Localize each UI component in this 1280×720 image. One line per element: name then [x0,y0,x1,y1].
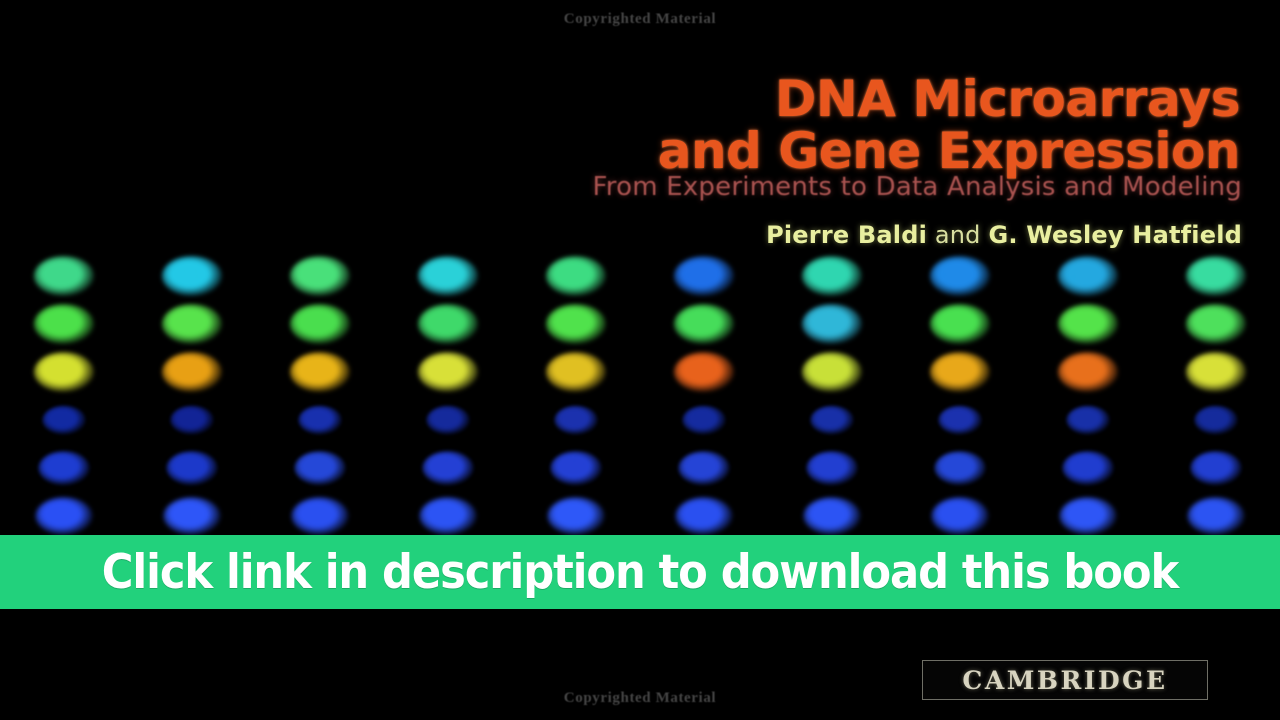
microarray-spot [426,406,469,435]
microarray-spot [418,304,478,344]
microarray-spot [930,352,990,392]
microarray-spot [292,497,349,535]
microarray-spot [930,304,990,344]
microarray-spot [162,352,222,392]
microarray-spot [1066,406,1109,435]
microarray-spot [42,406,85,435]
microarray-spot [935,451,986,485]
microarray-spot [551,451,602,485]
microarray-spot [682,406,725,435]
microarray-spot [1058,304,1118,344]
microarray-spot [1058,256,1118,296]
microarray-spot [34,304,94,344]
microarray-spot [674,304,734,344]
microarray-spot [807,451,858,485]
book-title-line-2: and Gene Expression [658,126,1240,176]
microarray-spot [932,497,989,535]
microarray-spot [546,256,606,296]
microarray-spot [36,497,93,535]
microarray-spot [1186,352,1246,392]
copyright-watermark-bottom: Copyrighted Material [0,690,1280,707]
microarray-spot [674,256,734,296]
authors-conjunction: and [927,221,988,249]
microarray-spot [418,256,478,296]
microarray-spot [298,406,341,435]
book-title-line-1: DNA Microarrays [775,74,1240,124]
microarray-spot [1191,451,1242,485]
microarray-spot [546,304,606,344]
microarray-spot [295,451,346,485]
microarray-spot [1060,497,1117,535]
microarray-spot [548,497,605,535]
microarray-grid [0,252,1280,542]
microarray-spot [423,451,474,485]
book-subtitle: From Experiments to Data Analysis and Mo… [593,172,1242,202]
microarray-spot [418,352,478,392]
copyright-watermark-top: Copyrighted Material [0,11,1280,28]
microarray-spot [802,304,862,344]
microarray-spot [167,451,218,485]
microarray-spot [1194,406,1237,435]
book-authors: Pierre Baldi and G. Wesley Hatfield [766,221,1242,249]
download-cta-text: Click link in description to download th… [102,545,1178,600]
microarray-spot [674,352,734,392]
book-cover: Copyrighted Material DNA Microarrays and… [0,0,1280,720]
microarray-spot [1188,497,1245,535]
microarray-spot [546,352,606,392]
microarray-spot [34,352,94,392]
microarray-spot [162,256,222,296]
microarray-spot [290,352,350,392]
microarray-spot [34,256,94,296]
microarray-spot [162,304,222,344]
microarray-spot [164,497,221,535]
microarray-spot [39,451,90,485]
microarray-spot [420,497,477,535]
microarray-spot [930,256,990,296]
microarray-spot [679,451,730,485]
microarray-spot [1186,256,1246,296]
microarray-spot [1058,352,1118,392]
microarray-spot [802,352,862,392]
download-cta-banner[interactable]: Click link in description to download th… [0,535,1280,609]
microarray-spot [810,406,853,435]
microarray-spot [802,256,862,296]
author-primary: Pierre Baldi [766,221,927,249]
microarray-spot [290,304,350,344]
microarray-spot [938,406,981,435]
microarray-spot [676,497,733,535]
microarray-spot [804,497,861,535]
microarray-spot [170,406,213,435]
microarray-spot [290,256,350,296]
microarray-spot [554,406,597,435]
microarray-spot [1063,451,1114,485]
author-secondary: G. Wesley Hatfield [988,221,1242,249]
microarray-spot [1186,304,1246,344]
